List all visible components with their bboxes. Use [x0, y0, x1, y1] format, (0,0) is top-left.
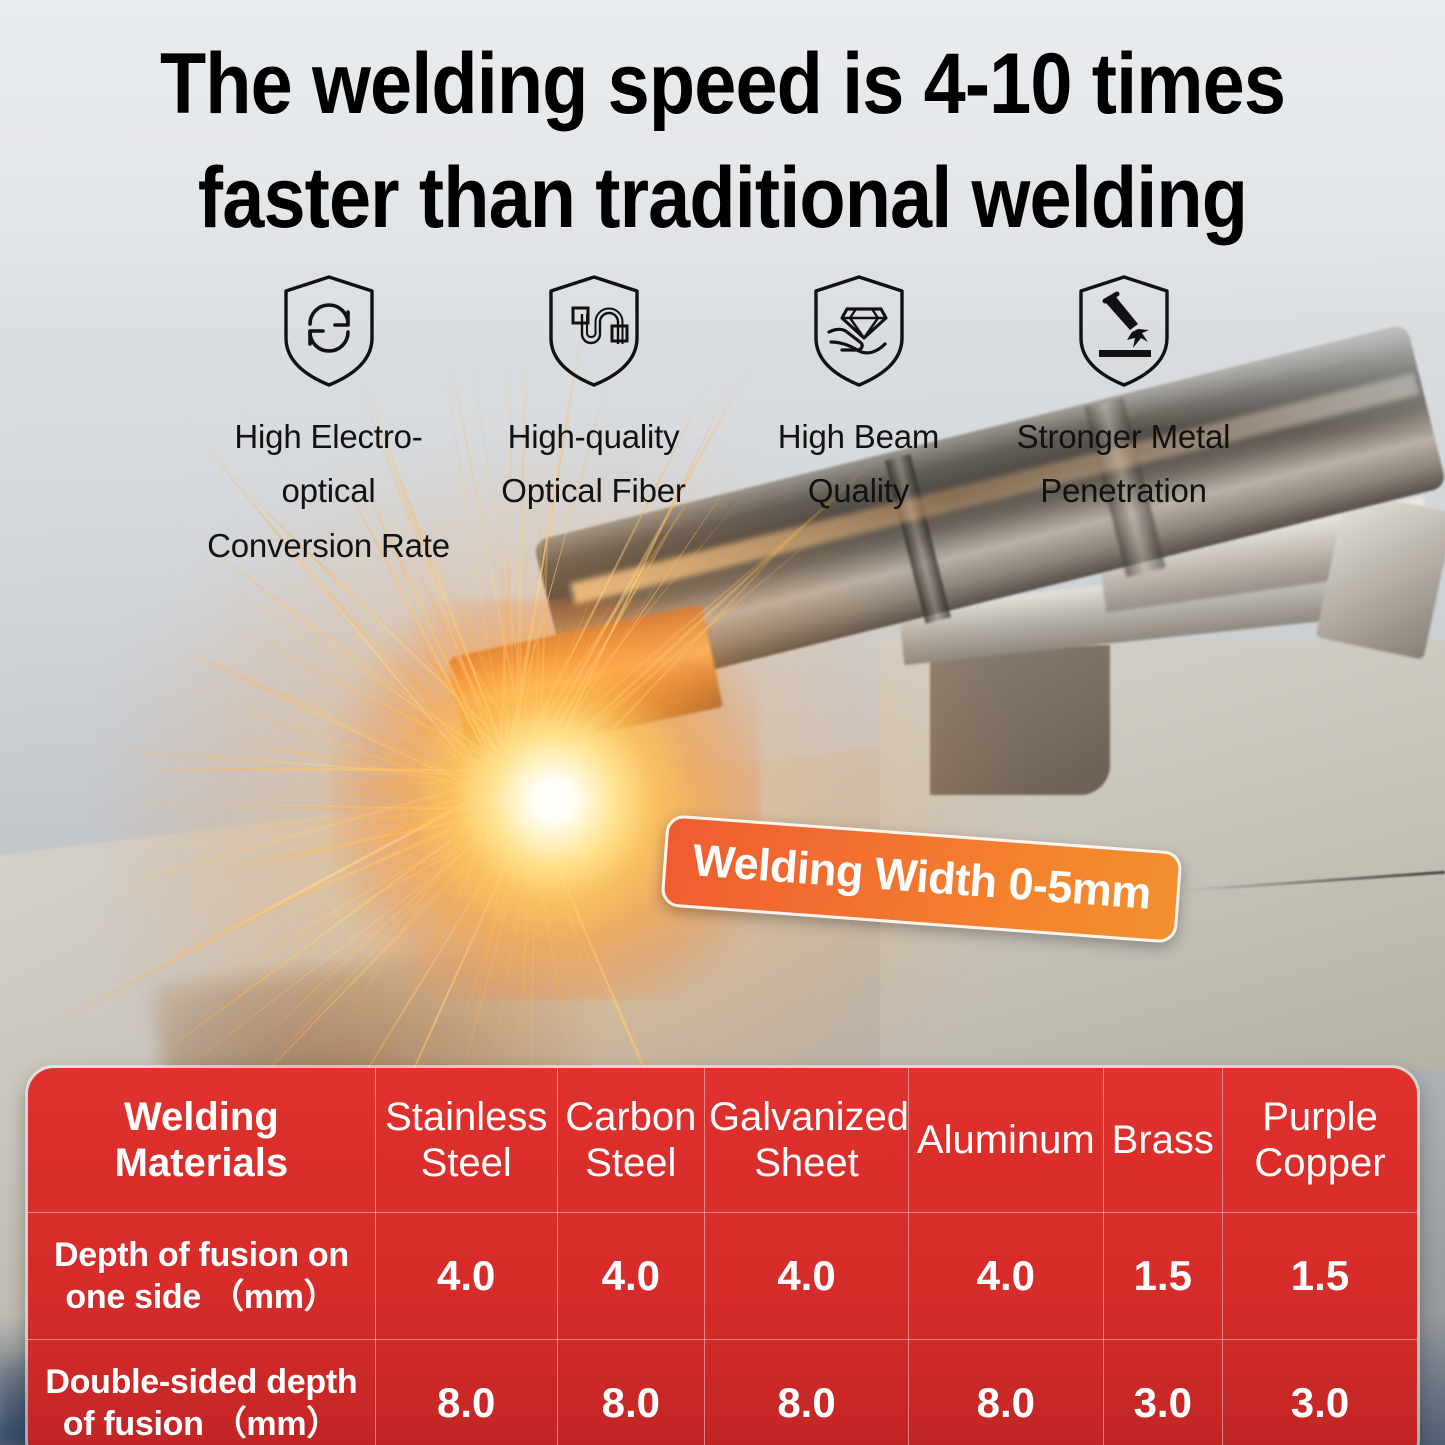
column-header-purple-copper: Purple Copper	[1223, 1068, 1418, 1213]
optical-fiber-icon	[542, 272, 646, 390]
cell-value: 4.0	[375, 1213, 557, 1340]
cell-value: 3.0	[1223, 1340, 1418, 1445]
feature-label: High-quality Optical Fiber	[501, 410, 685, 519]
cell-value: 8.0	[375, 1340, 557, 1445]
feature-label: High Electro-optical Conversion Rate	[196, 410, 461, 573]
page-title: The welding speed is 4-10 times faster t…	[87, 28, 1359, 255]
cell-value: 8.0	[909, 1340, 1103, 1445]
table-row: Double-sided depth of fusion （mm） 8.0 8.…	[28, 1340, 1417, 1445]
column-header-brass: Brass	[1103, 1068, 1222, 1213]
welding-spec-table: Welding Materials Stainless Steel Carbon…	[28, 1068, 1417, 1445]
diamond-in-hand-icon	[807, 272, 911, 390]
table-row: Depth of fusion on one side （mm） 4.0 4.0…	[28, 1213, 1417, 1340]
cell-value: 8.0	[704, 1340, 908, 1445]
column-header-galvanized-sheet: Galvanized Sheet	[704, 1068, 908, 1213]
cell-value: 4.0	[909, 1213, 1103, 1340]
column-header-carbon-steel: Carbon Steel	[557, 1068, 704, 1213]
headline-line-2: faster than traditional welding	[87, 142, 1359, 256]
refresh-cycle-icon	[277, 272, 381, 390]
feature-item-beam-quality: High Beam Quality	[726, 272, 991, 573]
column-header-aluminum: Aluminum	[909, 1068, 1103, 1213]
column-header-materials: Welding Materials	[28, 1068, 375, 1213]
promo-infographic: The welding speed is 4-10 times faster t…	[0, 0, 1445, 1445]
feature-label: High Beam Quality	[778, 410, 939, 519]
cell-value: 3.0	[1103, 1340, 1222, 1445]
feature-item-optical-fiber: High-quality Optical Fiber	[461, 272, 726, 573]
row-label-single-side: Depth of fusion on one side （mm）	[28, 1213, 375, 1340]
column-header-stainless-steel: Stainless Steel	[375, 1068, 557, 1213]
welding-torch-icon	[1072, 272, 1176, 390]
headline-line-1: The welding speed is 4-10 times	[160, 36, 1285, 132]
spec-table-container: Welding Materials Stainless Steel Carbon…	[28, 1068, 1417, 1445]
cell-value: 4.0	[557, 1213, 704, 1340]
feature-item-electro-optical: High Electro-optical Conversion Rate	[196, 272, 461, 573]
cell-value: 8.0	[557, 1340, 704, 1445]
feature-label: Stronger Metal Penetration	[1017, 410, 1231, 519]
feature-item-metal-penetration: Stronger Metal Penetration	[991, 272, 1256, 573]
cell-value: 1.5	[1103, 1213, 1222, 1340]
feature-list: High Electro-optical Conversion Rate Hig…	[196, 272, 1256, 573]
table-header-row: Welding Materials Stainless Steel Carbon…	[28, 1068, 1417, 1213]
cell-value: 1.5	[1223, 1213, 1418, 1340]
weld-arc-core	[330, 600, 760, 1000]
cell-value: 4.0	[704, 1213, 908, 1340]
row-label-double-sided: Double-sided depth of fusion （mm）	[28, 1340, 375, 1445]
